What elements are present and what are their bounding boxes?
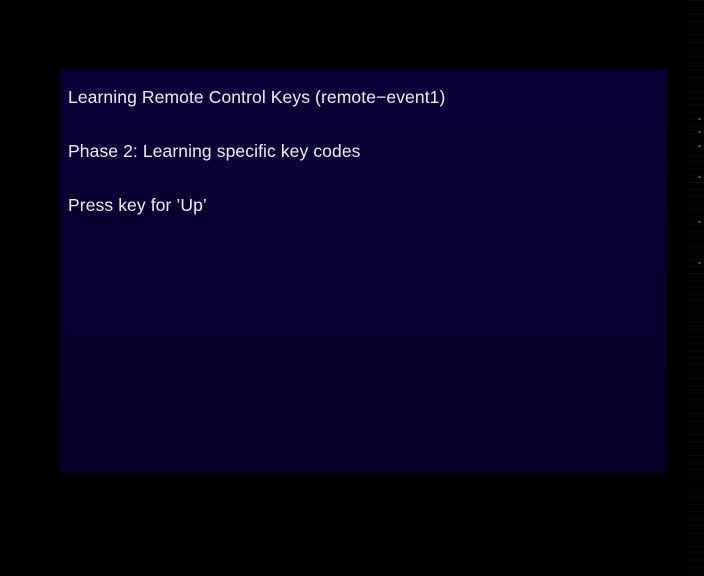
dialog-phase-line: Phase 2: Learning specific key codes (68, 124, 659, 178)
dialog-prompt-line: Press key for ’Up’ (68, 178, 659, 232)
message-block: Learning Remote Control Keys (remote−eve… (68, 70, 659, 232)
learning-dialog-panel: Learning Remote Control Keys (remote−eve… (60, 70, 667, 473)
desktop-background: Learning Remote Control Keys (remote−eve… (0, 0, 704, 576)
dialog-title-line: Learning Remote Control Keys (remote−eve… (68, 70, 659, 124)
offscreen-window-edge-artifact (688, 0, 704, 576)
